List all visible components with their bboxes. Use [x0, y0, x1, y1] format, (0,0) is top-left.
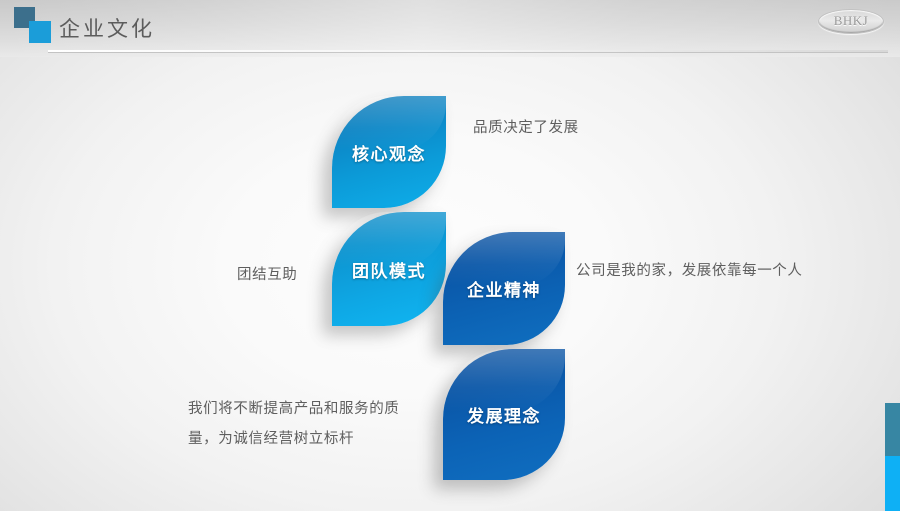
header-divider: [48, 50, 888, 52]
petal-vision[interactable]: 发展理念: [443, 349, 565, 480]
petal-core[interactable]: 核心观念: [332, 96, 446, 208]
petal-team-label: 团队模式: [352, 257, 426, 282]
brand-logo-text: BHKJ: [818, 13, 884, 29]
brand-logo: BHKJ: [818, 9, 884, 34]
caption-spirit: 公司是我的家，发展依靠每一个人: [576, 257, 803, 285]
caption-vision: 我们将不断提高产品和服务的质量，为诚信经营树立标杆: [188, 394, 428, 454]
page-title: 企业文化: [59, 13, 155, 43]
caption-core: 品质决定了发展: [473, 114, 579, 142]
edge-accent-bar-bottom: [885, 456, 900, 511]
header-accent-square-light: [29, 21, 51, 43]
slide-header: 企业文化 BHKJ: [0, 0, 900, 57]
petal-team[interactable]: 团队模式: [332, 212, 446, 326]
petal-core-label: 核心观念: [352, 140, 426, 165]
edge-accent-bar-top: [885, 403, 900, 456]
slide-canvas: 企业文化 BHKJ 核心观念 团队模式 企业精神 发展理念 品质决定了发展 团结…: [0, 0, 900, 511]
petal-vision-label: 发展理念: [467, 402, 541, 427]
petal-spirit-label: 企业精神: [467, 276, 541, 301]
petal-spirit[interactable]: 企业精神: [443, 232, 565, 345]
caption-team: 团结互助: [237, 261, 297, 289]
